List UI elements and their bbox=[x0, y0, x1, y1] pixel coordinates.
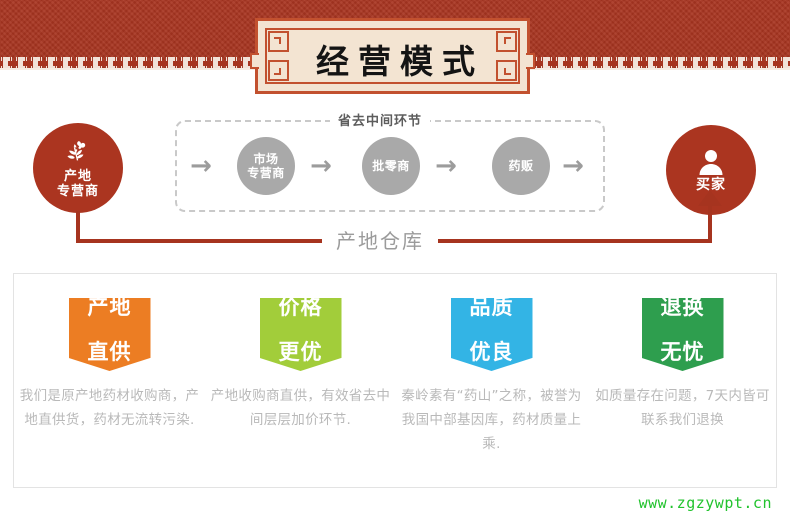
badge-line2: 直供 bbox=[88, 340, 132, 365]
feature-column: 价格 更优 产地收购商直供，有效省去中间层层加价环节. bbox=[205, 274, 396, 487]
badge-line2: 更优 bbox=[279, 340, 323, 365]
page-title: 经营模式 bbox=[258, 21, 533, 97]
corner-ornament-icon bbox=[496, 31, 517, 52]
connector-arrowhead-icon bbox=[698, 190, 722, 206]
node-origin-label: 产地 专营商 bbox=[57, 169, 99, 199]
flow-arrow-icon: → bbox=[557, 156, 589, 176]
feature-description: 产地收购商直供，有效省去中间层层加价环节. bbox=[209, 384, 392, 432]
feature-column: 产地 直供 我们是原产地药材收购商，产地直供货，药材无流转污染. bbox=[14, 274, 205, 487]
node-origin-label-line1: 产地 bbox=[64, 169, 92, 184]
skipped-middlemen-label: 省去中间环节 bbox=[330, 110, 430, 129]
badge-returns: 退换 无忧 bbox=[642, 298, 724, 371]
flow-arrow-icon: → bbox=[185, 156, 217, 176]
flow-arrow-icon: → bbox=[430, 156, 462, 176]
node-wholesale-retail-label: 批零商 bbox=[372, 159, 410, 173]
business-flow-diagram: 省去中间环节 产地 bbox=[0, 70, 790, 265]
person-icon bbox=[696, 147, 726, 177]
badge-better-price-label: 价格 更优 bbox=[279, 300, 323, 365]
site-watermark: www.zgzywpt.cn bbox=[639, 494, 772, 512]
node-market-dealer-label: 市场 专营商 bbox=[247, 152, 285, 180]
feature-description: 我们是原产地药材收购商，产地直供货，药材无流转污染. bbox=[18, 384, 201, 432]
badge-line1: 品质 bbox=[470, 295, 514, 320]
badge-returns-label: 退换 无忧 bbox=[661, 300, 705, 365]
feature-description: 秦岭素有“药山”之称，被誉为我国中部基因库，药材质量上乘. bbox=[400, 384, 583, 456]
node-origin-supplier[interactable]: 产地 专营商 bbox=[33, 123, 123, 213]
badge-line1: 产地 bbox=[88, 295, 132, 320]
corner-ornament-icon bbox=[268, 60, 289, 81]
badge-line1: 价格 bbox=[279, 295, 323, 320]
badge-direct-supply-label: 产地 直供 bbox=[88, 300, 132, 365]
badge-better-price: 价格 更优 bbox=[260, 298, 342, 371]
badge-direct-supply: 产地 直供 bbox=[69, 298, 151, 371]
connector-vertical-right bbox=[708, 201, 712, 243]
node-wholesale-retail[interactable]: 批零商 bbox=[362, 137, 420, 195]
banner-plaque: 经营模式 bbox=[255, 18, 530, 94]
corner-ornament-icon bbox=[496, 60, 517, 81]
feature-column: 退换 无忧 如质量存在问题，7天内皆可联系我们退换 bbox=[587, 274, 778, 487]
badge-quality-label: 品质 优良 bbox=[470, 300, 514, 365]
warehouse-label: 产地仓库 bbox=[322, 225, 438, 254]
page-root: 经营模式 省去中间环节 bbox=[0, 0, 790, 518]
herb-sprig-icon bbox=[61, 138, 95, 168]
features-panel: 产地 直供 我们是原产地药材收购商，产地直供货，药材无流转污染. 价格 更优 产… bbox=[13, 273, 777, 488]
corner-ornament-icon bbox=[268, 31, 289, 52]
feature-description: 如质量存在问题，7天内皆可联系我们退换 bbox=[591, 384, 774, 432]
node-origin-label-line2: 专营商 bbox=[57, 184, 99, 199]
badge-quality: 品质 优良 bbox=[451, 298, 533, 371]
node-drug-peddler-label: 药贩 bbox=[508, 159, 533, 173]
label-line1: 市场 bbox=[253, 152, 278, 166]
feature-column: 品质 优良 秦岭素有“药山”之称，被誉为我国中部基因库，药材质量上乘. bbox=[396, 274, 587, 487]
flow-arrow-icon: → bbox=[305, 156, 337, 176]
badge-line2: 优良 bbox=[470, 340, 514, 365]
badge-line2: 无忧 bbox=[661, 340, 705, 365]
node-market-dealer[interactable]: 市场 专营商 bbox=[237, 137, 295, 195]
node-drug-peddler[interactable]: 药贩 bbox=[492, 137, 550, 195]
label-line2: 专营商 bbox=[247, 166, 285, 180]
badge-line1: 退换 bbox=[661, 295, 705, 320]
